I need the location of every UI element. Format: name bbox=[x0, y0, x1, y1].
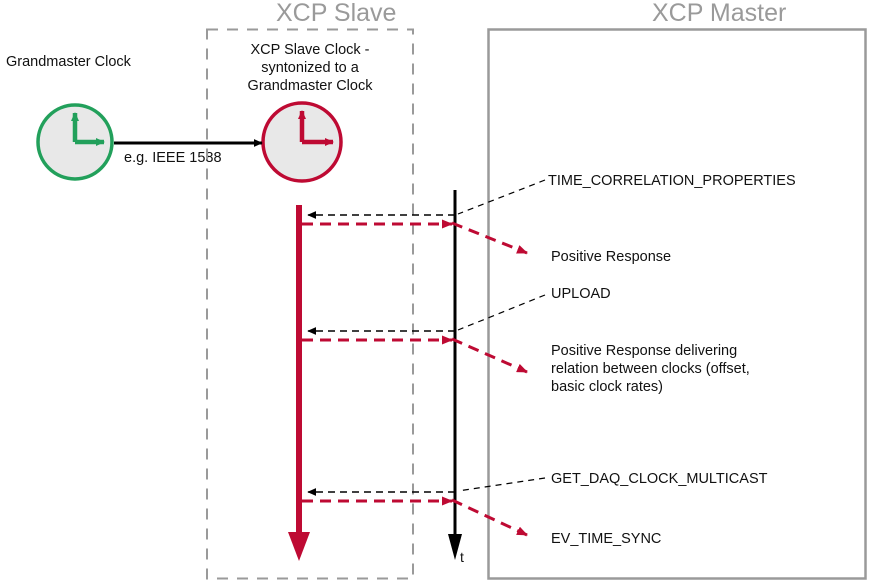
leader-line-time-correlation-properties bbox=[458, 180, 545, 214]
diagram-vectors bbox=[0, 0, 872, 583]
leader-line-get-daq-clock-multicast bbox=[458, 478, 545, 491]
grandmaster-clock-icon bbox=[38, 105, 112, 179]
xcp-slave-clock-icon bbox=[263, 103, 341, 181]
leader-line-upload bbox=[458, 295, 545, 330]
diagram-canvas: XCP Slave XCP Master Grandmaster Clock X… bbox=[0, 0, 872, 583]
lane-box-xcp-master bbox=[489, 30, 866, 579]
master-timeline-arrowhead bbox=[448, 534, 462, 560]
slave-timeline-arrowhead bbox=[288, 532, 310, 561]
